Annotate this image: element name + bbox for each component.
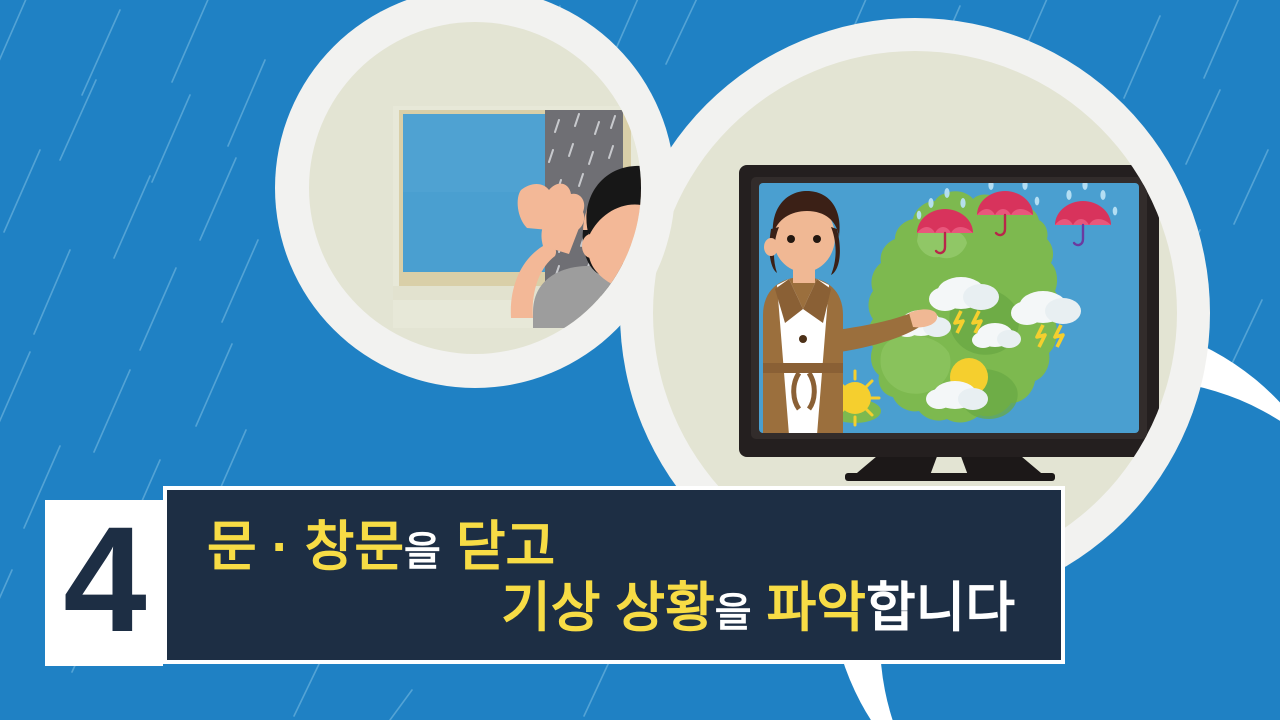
caption-line-1: 문 · 창문을 닫고: [193, 520, 1035, 575]
presenter-belt: [763, 363, 843, 373]
caption-line-2: 기상 상황을 파악합니다: [193, 581, 1035, 636]
caption-line1-part2: 을: [404, 530, 441, 574]
caption-line2-part2: 을: [715, 591, 752, 635]
illustration-circle-window-inner: [309, 22, 641, 354]
caption-line1-part3: 닫고: [456, 517, 555, 577]
person-ear: [582, 234, 600, 258]
tv-stand-base: [845, 473, 1055, 481]
window-closing-illustration: [393, 106, 641, 328]
presenter-button: [799, 335, 807, 343]
slide-canvas: 문 · 창문을 닫고 기상 상황을 파악합니다 4: [0, 0, 1280, 720]
caption-line2-part4: 합니다: [866, 578, 1015, 638]
caption-line1-part1: 문 · 창문: [207, 517, 404, 577]
presenter-eye-right: [813, 235, 821, 243]
caption-line2-part3: 파악: [767, 578, 866, 638]
step-number-value: 4: [63, 504, 144, 654]
window-glass-highlight: [403, 114, 555, 192]
caption-panel-inner: 문 · 창문을 닫고 기상 상황을 파악합니다: [167, 490, 1061, 660]
illustration-circle-window: [275, 0, 675, 388]
caption-panel: 문 · 창문을 닫고 기상 상황을 파악합니다: [163, 486, 1065, 664]
presenter-ear: [764, 238, 778, 256]
caption-line2-part1: 기상 상황: [501, 578, 715, 638]
presenter-eye-left: [787, 235, 795, 243]
step-number-badge: 4: [45, 500, 163, 666]
tv-weather-illustration: [733, 163, 1163, 483]
